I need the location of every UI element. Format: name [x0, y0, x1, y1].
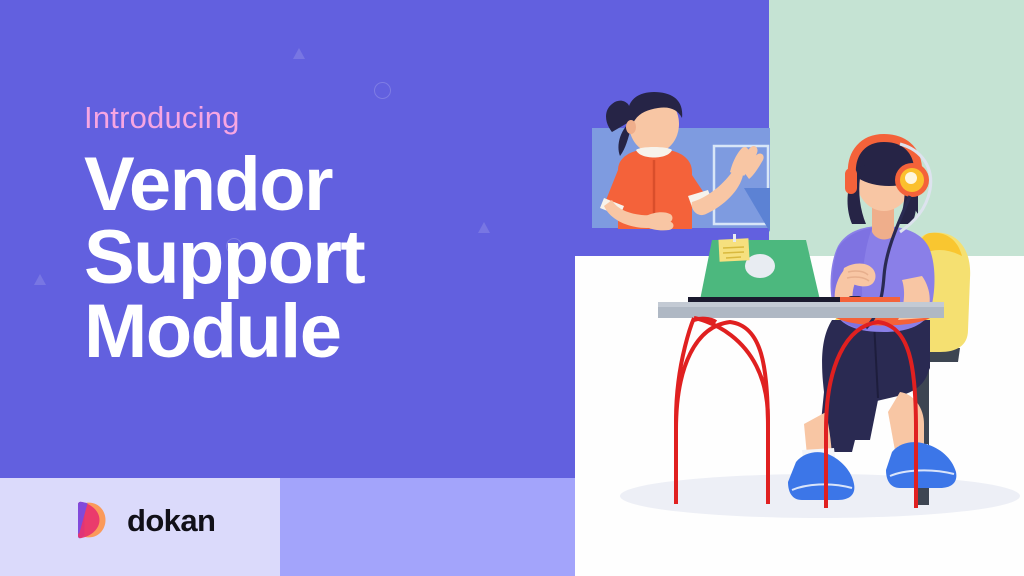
promo-banner: Introducing Vendor Support Module dokan [0, 0, 1024, 576]
headline-line-3: Module [84, 295, 554, 369]
hero-eyebrow: Introducing [84, 100, 554, 136]
dokan-d-mark-icon [76, 500, 114, 540]
background-white-panel [575, 256, 1024, 576]
brand-logo: dokan [76, 500, 215, 540]
deco-triangle-3-icon [34, 274, 46, 285]
headline-line-1: Vendor [84, 148, 554, 222]
headline-line-2: Support [84, 221, 554, 295]
logo-wordmark: dokan [127, 505, 215, 536]
background-mint-panel [769, 0, 1024, 290]
background-lavender-mid-panel [280, 478, 575, 576]
deco-circle-1-icon [374, 82, 391, 99]
hero-text-block: Introducing Vendor Support Module [84, 100, 554, 369]
page-title: Vendor Support Module [84, 148, 554, 369]
deco-triangle-1-icon [293, 48, 305, 59]
